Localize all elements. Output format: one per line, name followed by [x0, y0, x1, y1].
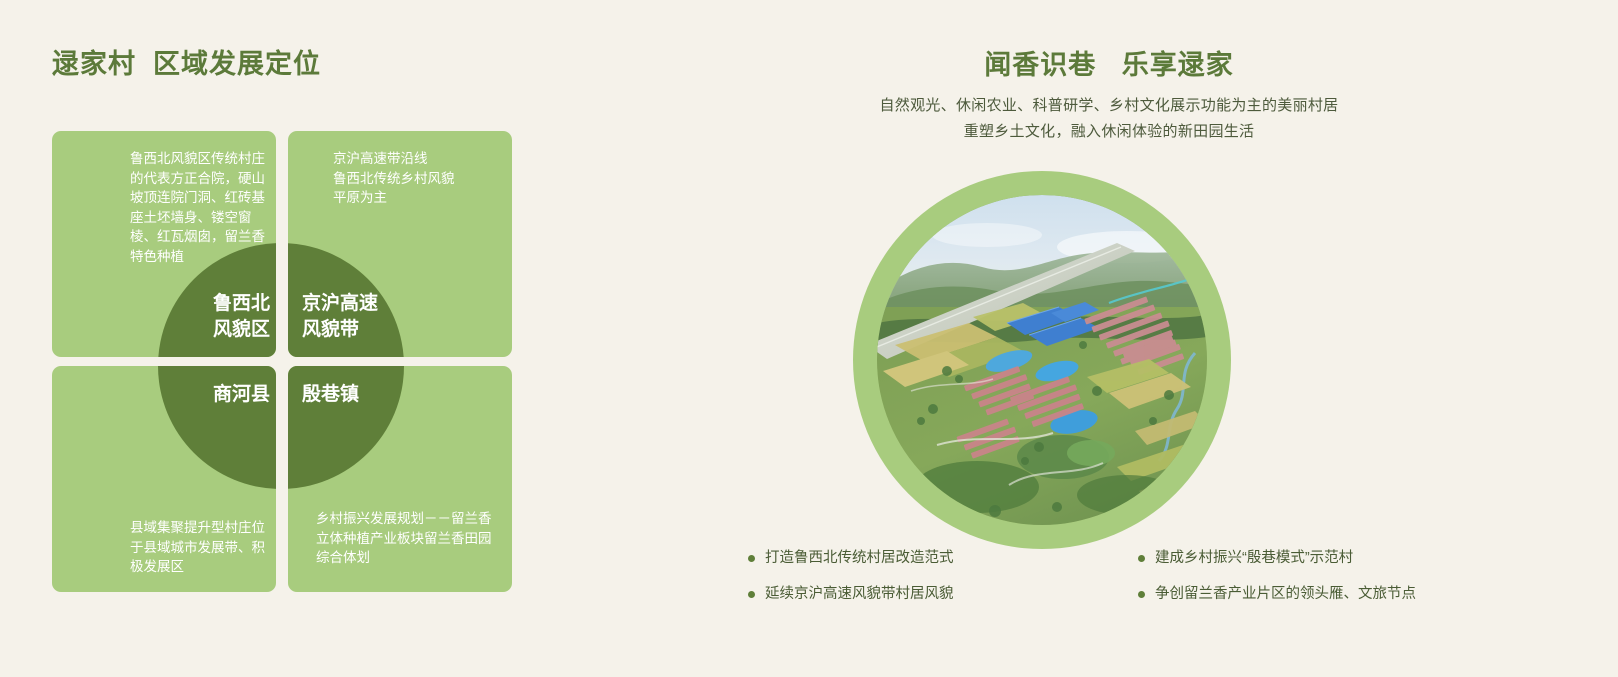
card-luxibei-fengmaoqu[interactable]: 鲁西北风貌区传统村庄的代表方正合院，硬山坡顶连院门洞、红砖基座土坯墙身、镂空窗棱…: [52, 131, 276, 357]
highlight-bullet-list: 打造鲁西北传统村居改造范式 建成乡村振兴“殷巷模式”示范村 延续京沪高速风貌带村…: [748, 548, 1538, 605]
list-item: 争创留兰香产业片区的领头雁、文旅节点: [1138, 584, 1483, 604]
subtitle-line-1: 自然观光、休闲农业、科普研学、乡村文化展示功能为主的美丽村居: [600, 94, 1618, 115]
card-label: 鲁西北 风貌区: [170, 291, 270, 342]
list-item: 建成乡村振兴“殷巷模式”示范村: [1138, 548, 1483, 568]
card-label: 京沪高速 风貌带: [302, 291, 412, 342]
bullet-dot-icon: [748, 591, 755, 598]
aerial-view-image: [877, 195, 1207, 525]
card-jinghu-gaosu-fengmaodai[interactable]: 京沪高速带沿线 鲁西北传统乡村风貌 平原为主 京沪高速 风貌带: [288, 131, 512, 357]
card-yinxiang-zhen[interactable]: 乡村振兴发展规划－－留兰香立体种植产业板块留兰香田园综合体划 殷巷镇: [288, 366, 512, 592]
right-panel: 闻香识巷 乐享逯家 自然观光、休闲农业、科普研学、乡村文化展示功能为主的美丽村居…: [600, 0, 1618, 677]
bullet-dot-icon: [748, 555, 755, 562]
quadrant-diagram: 鲁西北风貌区传统村庄的代表方正合院，硬山坡顶连院门洞、红砖基座土坯墙身、镂空窗棱…: [52, 131, 512, 592]
bullet-text: 争创留兰香产业片区的领头雁、文旅节点: [1155, 584, 1416, 604]
bullet-text: 延续京沪高速风貌带村居风貌: [765, 584, 954, 604]
bullet-dot-icon: [1138, 591, 1145, 598]
slide-root: 逯家村 区域发展定位 鲁西北风貌区传统村庄的代表方正合院，硬山坡顶连院门洞、红砖…: [0, 0, 1618, 677]
card-label: 商河县: [170, 382, 270, 408]
bullet-text: 打造鲁西北传统村居改造范式: [765, 548, 954, 568]
left-panel: 逯家村 区域发展定位 鲁西北风貌区传统村庄的代表方正合院，硬山坡顶连院门洞、红砖…: [0, 0, 600, 677]
right-page-title: 闻香识巷 乐享逯家: [600, 43, 1618, 82]
card-description: 乡村振兴发展规划－－留兰香立体种植产业板块留兰香田园综合体划: [316, 509, 496, 568]
card-description: 县域集聚提升型村庄位于县域城市发展带、积极发展区: [130, 518, 266, 577]
bullet-text: 建成乡村振兴“殷巷模式”示范村: [1155, 548, 1353, 568]
card-label: 殷巷镇: [302, 382, 412, 408]
bullet-dot-icon: [1138, 555, 1145, 562]
card-description: 京沪高速带沿线 鲁西北传统乡村风貌 平原为主: [333, 149, 501, 208]
subtitle-line-2: 重塑乡土文化，融入休闲体验的新田园生活: [600, 120, 1618, 141]
card-description: 鲁西北风貌区传统村庄的代表方正合院，硬山坡顶连院门洞、红砖基座土坯墙身、镂空窗棱…: [130, 149, 265, 266]
photo-ring: [853, 171, 1231, 549]
left-page-title: 逯家村 区域发展定位: [52, 42, 321, 81]
list-item: 打造鲁西北传统村居改造范式: [748, 548, 1093, 568]
list-item: 延续京沪高速风貌带村居风貌: [748, 584, 1093, 604]
card-shanghe-xian[interactable]: 县域集聚提升型村庄位于县域城市发展带、积极发展区 商河县: [52, 366, 276, 592]
